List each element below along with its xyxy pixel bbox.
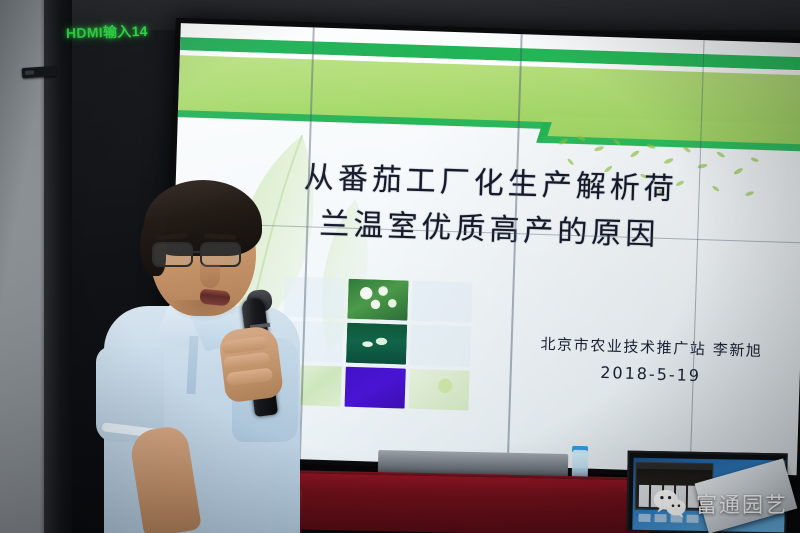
slide-byline: 北京市农业技术推广站 李新旭 2018-5-19 [539,331,763,392]
podium [291,473,650,533]
thumbnail-tile [345,367,406,409]
window-title-bar [636,463,712,470]
photo-scene: HDMI输入14 [0,0,800,533]
presenter-figure [96,178,326,533]
thumbnail-tile [346,323,407,365]
watermark: 富通园艺 [653,487,788,521]
hdmi-input-osd-label: HDMI输入14 [66,21,148,43]
wechat-icon [653,487,687,521]
presenter-hand [218,325,284,404]
thumbnail-tile [411,281,472,323]
presenter-mouth [199,288,230,306]
presenter-nose [200,264,220,288]
watermark-text: 富通园艺 [696,489,788,519]
wall-pillar [44,0,72,533]
thumbnail-tile [410,325,471,367]
thumbnail-tile [347,279,408,321]
thumbnail-tile [409,369,470,411]
finger [226,368,273,387]
glasses-lens-left [152,242,193,267]
glasses-bridge [192,251,202,253]
